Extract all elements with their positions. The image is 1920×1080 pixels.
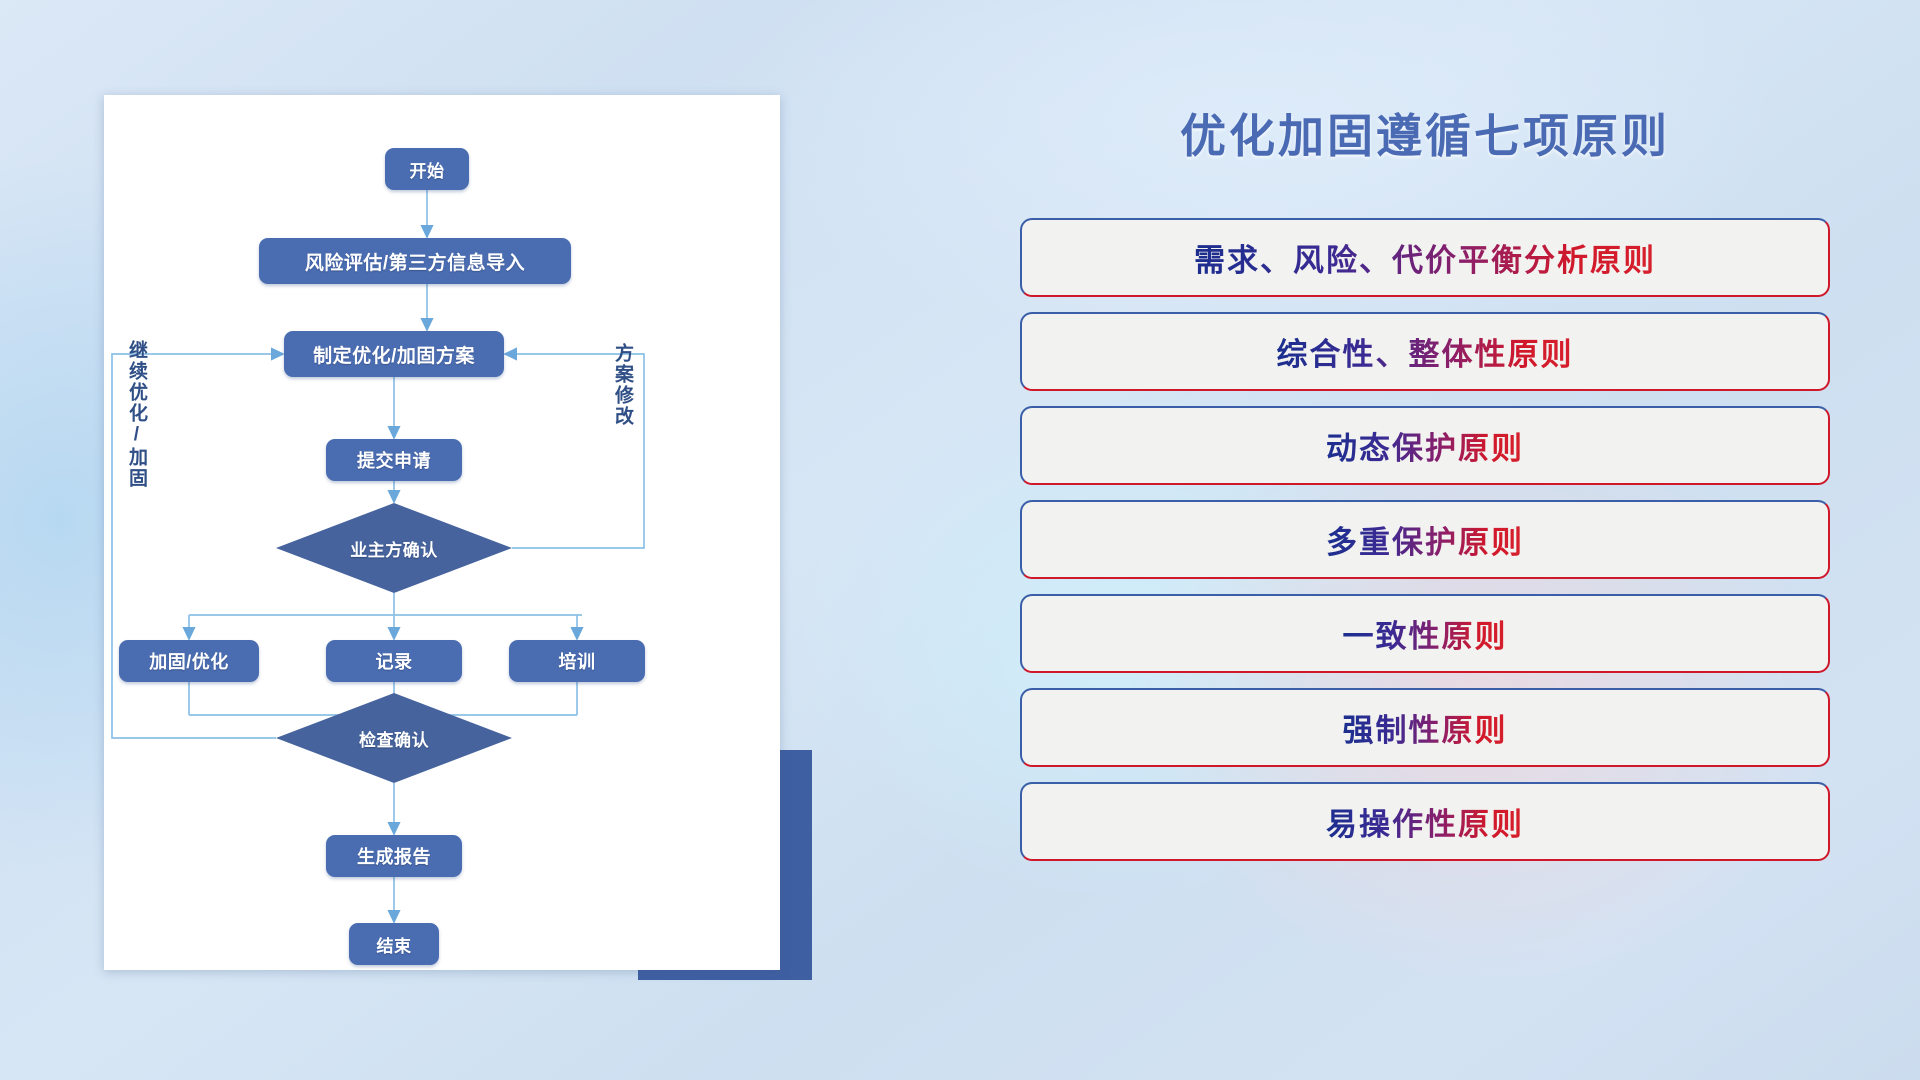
principles-panel: 优化加固遵循七项原则 需求、风险、代价平衡分析原则 综合性、整体性原则 动态保护… bbox=[1020, 100, 1830, 1030]
principle-label: 动态保护原则 bbox=[1326, 423, 1524, 468]
principle-label: 易操作性原则 bbox=[1326, 799, 1524, 844]
flow-node-label: 提交申请 bbox=[357, 447, 431, 473]
panel-title: 优化加固遵循七项原则 bbox=[1020, 100, 1830, 166]
flow-node-label: 培训 bbox=[559, 648, 596, 674]
flow-node-label: 加固/优化 bbox=[149, 648, 229, 674]
principle-card[interactable]: 一致性原则 bbox=[1020, 594, 1830, 673]
flow-node-owner-confirm[interactable]: 业主方确认 bbox=[276, 503, 512, 593]
principle-card[interactable]: 强制性原则 bbox=[1020, 688, 1830, 767]
flow-node-label: 检查确认 bbox=[359, 726, 429, 751]
flow-node-inspection-confirm[interactable]: 检查确认 bbox=[276, 693, 512, 783]
flow-node-label: 结束 bbox=[377, 932, 412, 957]
flow-node-label: 开始 bbox=[410, 157, 445, 182]
flow-node-label: 制定优化/加固方案 bbox=[313, 341, 475, 368]
principle-card[interactable]: 多重保护原则 bbox=[1020, 500, 1830, 579]
flow-node-reinforce-optimize[interactable]: 加固/优化 bbox=[119, 640, 259, 682]
flow-node-label: 风险评估/第三方信息导入 bbox=[305, 248, 525, 275]
principle-card[interactable]: 综合性、整体性原则 bbox=[1020, 312, 1830, 391]
flow-node-start[interactable]: 开始 bbox=[385, 148, 469, 190]
principle-card[interactable]: 需求、风险、代价平衡分析原则 bbox=[1020, 218, 1830, 297]
flow-node-make-plan[interactable]: 制定优化/加固方案 bbox=[284, 331, 504, 377]
principle-label: 一致性原则 bbox=[1343, 611, 1508, 656]
flow-node-generate-report[interactable]: 生成报告 bbox=[326, 835, 462, 877]
principle-label: 需求、风险、代价平衡分析原则 bbox=[1194, 235, 1656, 280]
flow-node-submit-application[interactable]: 提交申请 bbox=[326, 439, 462, 481]
principle-card[interactable]: 易操作性原则 bbox=[1020, 782, 1830, 861]
flow-node-risk-assessment[interactable]: 风险评估/第三方信息导入 bbox=[259, 238, 571, 284]
flow-node-record[interactable]: 记录 bbox=[326, 640, 462, 682]
principle-label: 多重保护原则 bbox=[1326, 517, 1524, 562]
principle-label: 综合性、整体性原则 bbox=[1277, 329, 1574, 374]
edge-label-continue-optimize: 继续优化/加固 bbox=[126, 340, 146, 489]
flow-node-end[interactable]: 结束 bbox=[349, 923, 439, 965]
flow-node-label: 业主方确认 bbox=[350, 536, 438, 561]
edge-label-plan-revision: 方案修改 bbox=[612, 343, 632, 427]
flowchart-card: 开始 风险评估/第三方信息导入 制定优化/加固方案 提交申请 业主方确认 加固/… bbox=[104, 95, 780, 970]
principle-label: 强制性原则 bbox=[1343, 705, 1508, 750]
slide-canvas: 开始 风险评估/第三方信息导入 制定优化/加固方案 提交申请 业主方确认 加固/… bbox=[0, 0, 1920, 1080]
flow-node-training[interactable]: 培训 bbox=[509, 640, 645, 682]
principle-card[interactable]: 动态保护原则 bbox=[1020, 406, 1830, 485]
principles-list: 需求、风险、代价平衡分析原则 综合性、整体性原则 动态保护原则 多重保护原则 一… bbox=[1020, 218, 1830, 861]
flow-node-label: 记录 bbox=[376, 648, 413, 674]
flow-node-label: 生成报告 bbox=[357, 843, 431, 869]
